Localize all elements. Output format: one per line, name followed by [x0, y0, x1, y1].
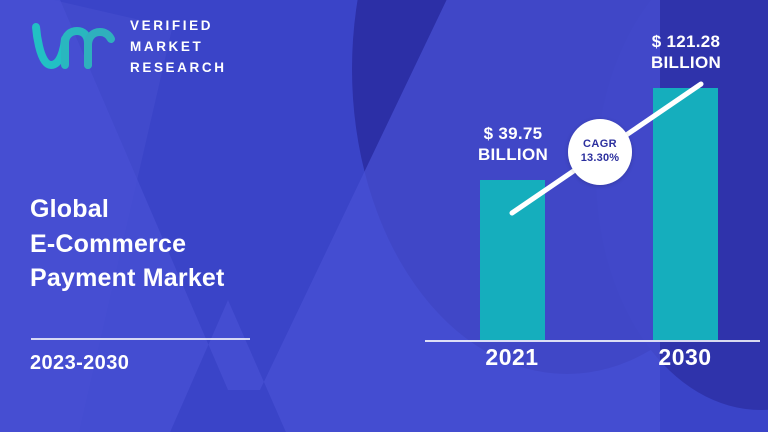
cagr-badge: CAGR 13.30% [568, 119, 632, 185]
cagr-label: CAGR [583, 138, 617, 152]
cagr-value: 13.30% [581, 152, 620, 166]
infographic-canvas: VERIFIED MARKET RESEARCH Global E-Commer… [0, 0, 768, 432]
bar-chart: $ 39.75 BILLION $ 121.28 BILLION CAGR 13… [0, 0, 768, 432]
axis-tick-2021: 2021 [452, 344, 572, 371]
axis-tick-2030: 2030 [625, 344, 745, 371]
